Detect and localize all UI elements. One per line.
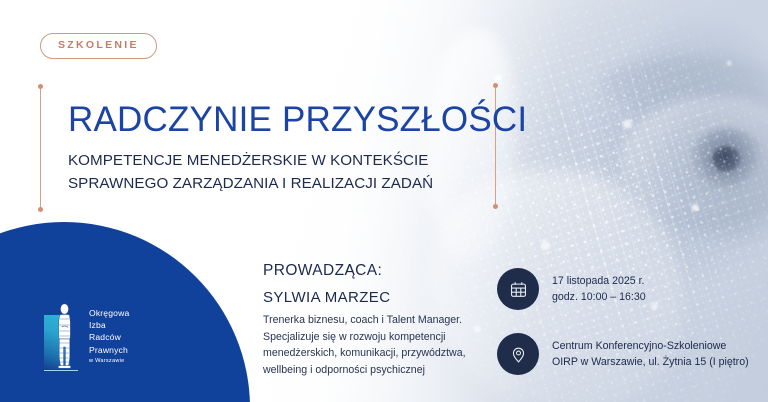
page-subtitle: KOMPETENCJE MENEDŻERSKIE W KONTEKŚCIE SP… (68, 150, 433, 195)
map-pin-icon (497, 333, 539, 375)
training-announcement-banner: SZKOLENIE RADCZYNIE PRZYSZŁOŚCI KOMPETEN… (0, 0, 768, 402)
event-date-line-2: godz. 10:00 – 16:30 (552, 289, 646, 305)
speaker-name: SYLWIA MARZEC (263, 289, 390, 306)
event-date-row: 17 listopada 2025 r. godz. 10:00 – 16:30 (497, 268, 646, 310)
speaker-description-line-4: wellbeing i odporności psychicznej (263, 362, 466, 379)
event-location-line-2: OIRP w Warszawie, ul. Żytnia 15 (I piętr… (552, 354, 749, 370)
themis-statue-icon (53, 303, 76, 369)
copper-accent-rule-left (40, 86, 41, 210)
event-location-line-1: Centrum Konferencyjno-Szkoleniowe (552, 338, 749, 354)
speaker-label: PROWADZĄCA: (263, 262, 382, 280)
logo-base-line (44, 370, 78, 372)
speaker-description-line-3: menedżerskich, komunikacji, przywództwa, (263, 345, 466, 362)
event-location-row: Centrum Konferencyjno-Szkoleniowe OIRP w… (497, 333, 749, 375)
logo-line-3: Radców (89, 331, 129, 343)
event-date-line-1: 17 listopada 2025 r. (552, 273, 646, 289)
subtitle-line-1: KOMPETENCJE MENEDŻERSKIE W KONTEKŚCIE (68, 150, 433, 173)
event-location-text: Centrum Konferencyjno-Szkoleniowe OIRP w… (552, 338, 749, 371)
category-badge: SZKOLENIE (40, 33, 157, 59)
logo-wordmark: Okręgowa Izba Radców Prawnych w Warszawi… (89, 303, 129, 366)
logo-line-1: Okręgowa (89, 307, 129, 319)
speaker-description-line-1: Trenerka biznesu, coach i Talent Manager… (263, 312, 466, 329)
logo-line-2: Izba (89, 319, 129, 331)
subtitle-line-2: SPRAWNEGO ZARZĄDZANIA I REALIZACJI ZADAŃ (68, 173, 433, 196)
oirp-logo: Okręgowa Izba Radców Prawnych w Warszawi… (44, 303, 129, 371)
speaker-description-line-2: Specjalizuje się w rozwoju kompetencji (263, 329, 466, 346)
page-title: RADCZYNIE PRZYSZŁOŚCI (68, 100, 527, 140)
calendar-icon (497, 268, 539, 310)
event-date-text: 17 listopada 2025 r. godz. 10:00 – 16:30 (552, 273, 646, 306)
logo-line-4: Prawnych (89, 344, 129, 356)
logo-city-line: w Warszawie (89, 358, 129, 366)
speaker-description: Trenerka biznesu, coach i Talent Manager… (263, 312, 466, 379)
themis-statue-logo-mark (44, 303, 80, 371)
